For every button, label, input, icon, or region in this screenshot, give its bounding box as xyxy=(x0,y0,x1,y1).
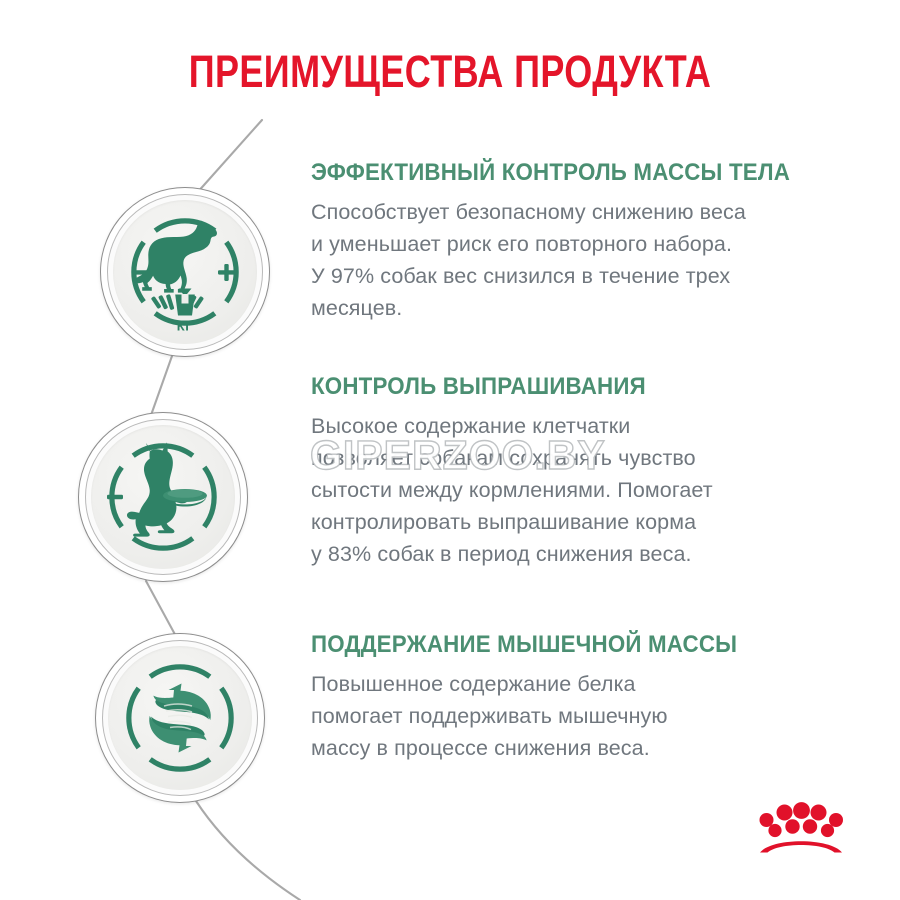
benefit-icon-medallion-3 xyxy=(95,633,265,803)
benefit-block-1: ЭФФЕКТИВНЫЙ КОНТРОЛЬ МАССЫ ТЕЛА Способст… xyxy=(311,158,863,324)
benefit-body-line: Способствует безопасному снижению веса xyxy=(311,196,863,228)
benefit-block-3: ПОДДЕРЖАНИЕ МЫШЕЧНОЙ МАССЫ Повышенное со… xyxy=(311,630,863,764)
benefit-body-line: сытости между кормлениями. Помогает xyxy=(311,474,863,506)
benefit-icon-medallion-1: КГ xyxy=(100,187,270,357)
begging-dog-with-bowl-icon xyxy=(91,425,235,569)
benefit-body-line: массу в процессе снижения веса. xyxy=(311,732,863,764)
muscle-with-arrows-icon xyxy=(108,646,252,790)
benefit-body-line: помогает поддерживать мышечную xyxy=(311,700,863,732)
benefit-heading-2: КОНТРОЛЬ ВЫПРАШИВАНИЯ xyxy=(311,372,824,402)
dog-on-scale-icon: КГ xyxy=(113,200,257,344)
benefit-block-2: КОНТРОЛЬ ВЫПРАШИВАНИЯ Высокое содержание… xyxy=(311,372,863,570)
page-title: ПРЕИМУЩЕСТВА ПРОДУКТА xyxy=(90,46,810,98)
benefit-body-line: и уменьшает риск его повторного набора. xyxy=(311,228,863,260)
benefit-body-line: позволяет собакам сохранять чувство xyxy=(311,442,863,474)
benefit-body-2: Высокое содержание клетчатки позволяет с… xyxy=(311,410,863,570)
benefit-body-line: контролировать выпрашивание корма xyxy=(311,506,863,538)
benefit-body-line: Высокое содержание клетчатки xyxy=(311,410,863,442)
benefit-body-1: Способствует безопасному снижению веса и… xyxy=(311,196,863,324)
benefit-heading-1: ЭФФЕКТИВНЫЙ КОНТРОЛЬ МАССЫ ТЕЛА xyxy=(311,158,824,188)
product-benefits-infographic: ПРЕИМУЩЕСТВА ПРОДУКТА xyxy=(0,0,900,900)
svg-text:КГ: КГ xyxy=(177,319,194,334)
benefit-icon-medallion-2 xyxy=(78,412,248,582)
benefit-body-3: Повышенное содержание белка помогает под… xyxy=(311,668,863,764)
royal-canin-crown-logo xyxy=(742,795,860,863)
benefit-body-line: месяцев. xyxy=(311,292,863,324)
benefit-body-line: У 97% собак вес снизился в течение трех xyxy=(311,260,863,292)
benefit-body-line: у 83% собак в период снижения веса. xyxy=(311,538,863,570)
benefit-heading-3: ПОДДЕРЖАНИЕ МЫШЕЧНОЙ МАССЫ xyxy=(311,630,824,660)
benefit-body-line: Повышенное содержание белка xyxy=(311,668,863,700)
